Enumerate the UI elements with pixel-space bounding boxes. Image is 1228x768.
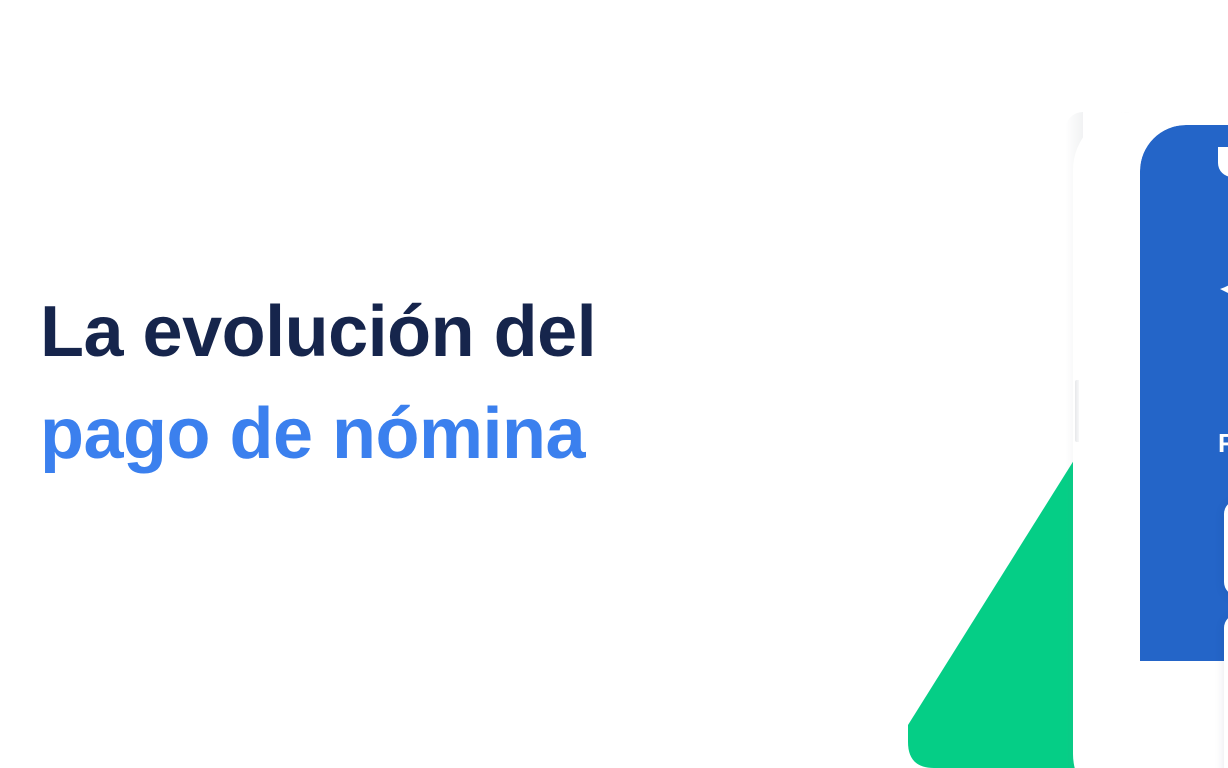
screen-title: Retira xyxy=(1218,428,1228,459)
headline-line-2: pago de nómina xyxy=(40,383,800,485)
available-balance-card[interactable]: Disp xyxy=(1224,500,1228,596)
app-background xyxy=(1140,125,1228,661)
power-button[interactable] xyxy=(1075,380,1079,442)
green-triangle-accent xyxy=(900,425,1100,768)
withdraw-amount-card[interactable]: ¿ $50 xyxy=(1224,614,1228,768)
wing-logo-icon xyxy=(1218,245,1228,305)
app-screen: Retira Disp ¿ $50 xyxy=(1140,125,1228,768)
page-title: La evolución del pago de nómina xyxy=(40,281,800,485)
headline-line-1: La evolución del xyxy=(40,281,800,383)
screen-notch xyxy=(1218,147,1228,177)
phone-mockup: Retira Disp ¿ $50 xyxy=(1073,112,1228,768)
hero-screenshot: La evolución del pago de nómina xyxy=(0,0,1228,768)
